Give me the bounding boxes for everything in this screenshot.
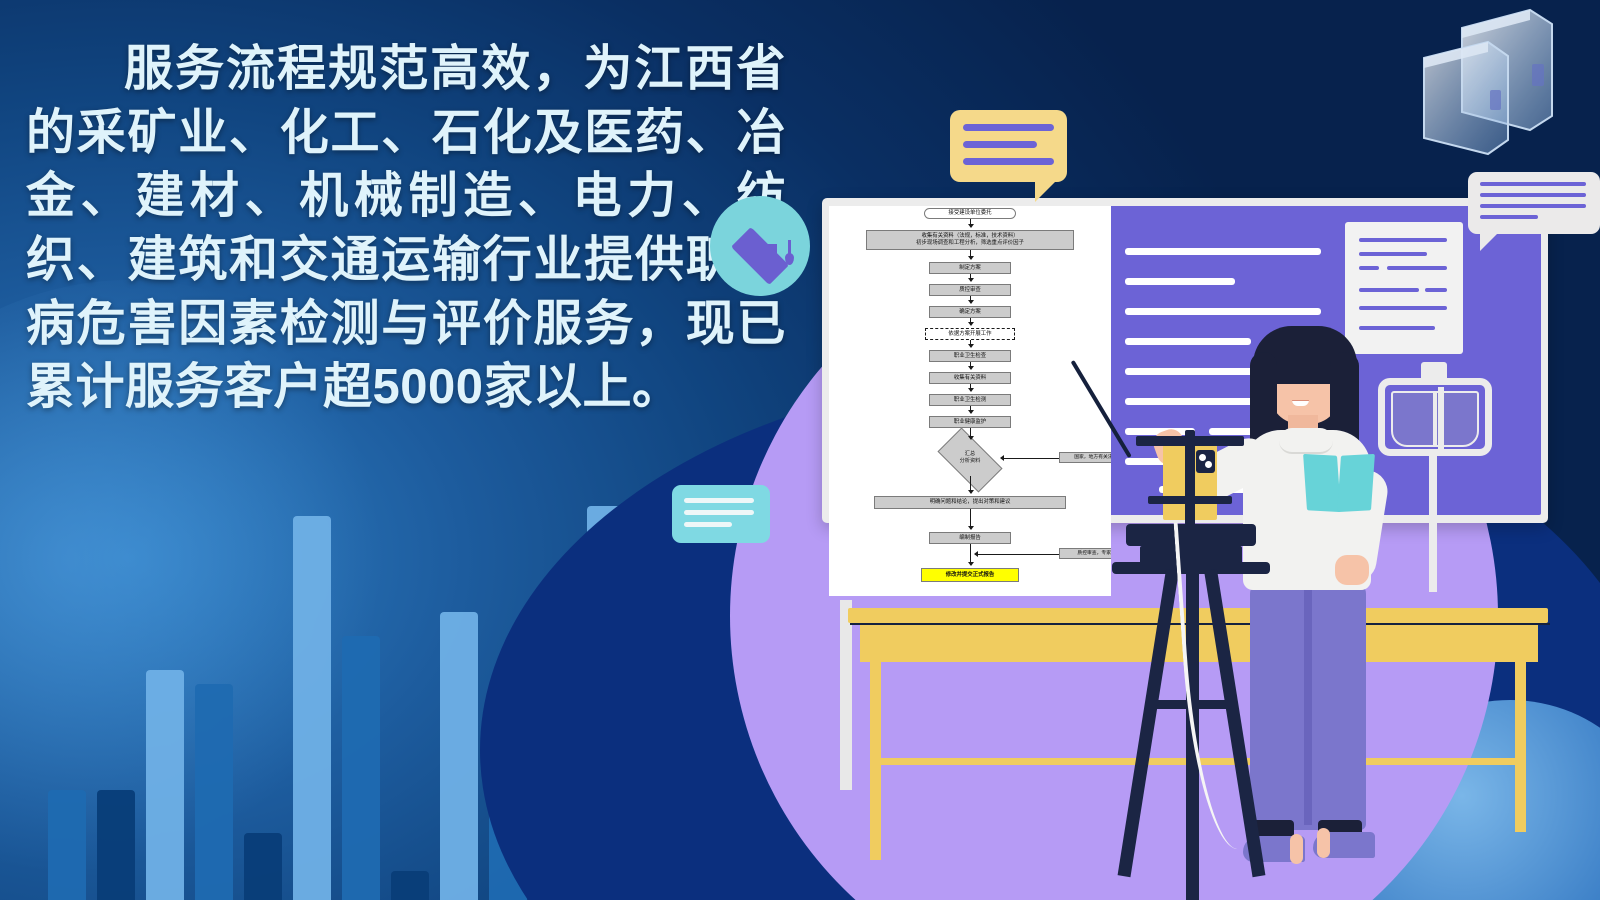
background-bar [391, 871, 429, 900]
notice-line [1425, 288, 1447, 292]
notice-line [1359, 326, 1435, 330]
yellow-speech-bubble [950, 110, 1067, 182]
flowchart-arrow [970, 428, 971, 439]
flowchart-side-node: 国家，地方有关法规，标准 [1059, 452, 1111, 463]
background-bar [146, 670, 184, 900]
flowchart-node: 接受建设单位委托 [924, 208, 1016, 219]
flowchart-arrow [970, 274, 971, 281]
books-icon [1380, 6, 1600, 186]
flowchart-arrow [970, 509, 971, 529]
page-title: 服务流程规范高效，为江西省的采矿业、化工、石化及医药、冶金、建材、机械制造、电力… [26, 38, 786, 420]
instrument-dial-icon [1196, 450, 1215, 473]
flowchart-node: 确定方案 [929, 306, 1011, 318]
book-page-left [1391, 391, 1435, 447]
white-speech-bubble [1468, 172, 1600, 234]
bubble-line [1480, 215, 1538, 219]
cap-mortarboard [731, 227, 789, 285]
flowchart-arrow [970, 318, 971, 325]
flowchart-arrow [970, 544, 971, 565]
flowchart-arrow [970, 476, 971, 493]
flowchart-arrow [970, 296, 971, 303]
flowchart-node: 职业卫生检查 [929, 350, 1011, 362]
card-line [684, 522, 732, 527]
notice-line [1359, 288, 1419, 292]
bubble-line [963, 124, 1054, 131]
flowchart-node: 修改并提交正式报告 [921, 568, 1019, 582]
flowchart-node: 收集有关资料（法规，标准，技术资料） 初步现场调查和工程分析，筛选重点评价因子 [866, 230, 1074, 250]
bubble-line [1480, 182, 1586, 186]
background-bar [293, 516, 331, 900]
bubble-line [963, 158, 1054, 165]
flowchart-arrow [970, 362, 971, 369]
wall-strip [840, 600, 852, 790]
flowchart-arrow [970, 406, 971, 413]
board-text-line [1125, 308, 1321, 315]
book-spine [1438, 387, 1444, 453]
open-book-icon [1378, 378, 1492, 456]
notice-line [1359, 306, 1447, 310]
teacher-left-hand [1335, 555, 1369, 585]
teacher-shoe [1313, 832, 1375, 858]
flowchart-node: 依据方案开展工作 [925, 328, 1015, 340]
graduation-cap-icon [729, 226, 791, 266]
flowchart-node: 职业卫生检测 [929, 394, 1011, 406]
notice-sheet [1345, 222, 1463, 354]
board-text-line [1125, 338, 1251, 345]
background-bar [440, 612, 478, 900]
graduation-cap-badge [710, 196, 810, 296]
flowchart-node: 明确问题和结论，提出对策和建议 [874, 496, 1066, 509]
tripod-crossbar [1148, 496, 1232, 504]
teacher-leg-gap [1304, 585, 1312, 825]
background-bar [97, 790, 135, 900]
flowchart-node: 制定方案 [929, 262, 1011, 274]
flowchart-arrow [970, 340, 971, 347]
held-book-right-page [1337, 454, 1375, 512]
book-stand-pole [1429, 452, 1437, 592]
notice-line [1359, 238, 1447, 242]
notice-line [1359, 252, 1427, 256]
flowchart-arrow [970, 384, 971, 391]
bubble-line [963, 141, 1037, 148]
notice-line [1387, 266, 1447, 270]
cyan-note-card [672, 485, 770, 543]
background-bar [195, 684, 233, 900]
board-text-line [1125, 248, 1321, 255]
flowchart-node: 职业健康监护 [929, 416, 1011, 428]
notice-line [1359, 266, 1379, 270]
flowchart-connector [975, 554, 1059, 555]
flowchart-node-label: 汇总 分析资料 [935, 451, 1005, 464]
background-bar [48, 790, 86, 900]
desk-leg [1515, 662, 1526, 832]
cap-tassel-knot [785, 253, 794, 265]
bubble-line [1480, 193, 1586, 197]
bubble-line [1480, 204, 1586, 208]
flowchart-side-node: 质控审查，专家评审 [1059, 548, 1111, 559]
flowchart-arrow [970, 219, 971, 227]
flowchart-connector [1001, 458, 1059, 459]
flowchart-node: 收集有关资料 [929, 372, 1011, 384]
background-bar [342, 636, 380, 900]
flowchart-arrow [970, 250, 971, 259]
card-line [684, 510, 754, 515]
flowchart-panel: 接受建设单位委托收集有关资料（法规，标准，技术资料） 初步现场调查和工程分析，筛… [829, 206, 1111, 596]
flowchart-node: 编制报告 [929, 532, 1011, 544]
held-book-left-page [1303, 454, 1341, 512]
flowchart-node: 质控审查 [929, 284, 1011, 296]
board-text-line [1125, 278, 1235, 285]
poster-canvas: 服务流程规范高效，为江西省的采矿业、化工、石化及医药、冶金、建材、机械制造、电力… [0, 0, 1600, 900]
background-bar [244, 833, 282, 900]
teacher-collar [1279, 428, 1333, 454]
card-line [684, 498, 754, 503]
